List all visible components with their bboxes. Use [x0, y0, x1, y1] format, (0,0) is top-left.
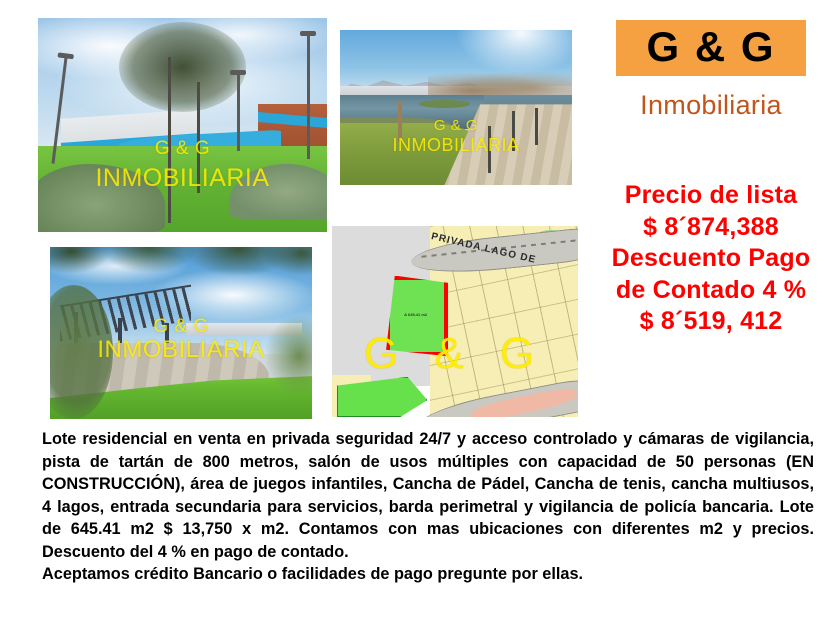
- property-description: Lote residencial en venta en privada seg…: [42, 428, 814, 586]
- shrub-right: [265, 316, 312, 395]
- photo-watermark: G & G: [332, 329, 578, 379]
- price-block: Precio de lista $ 8´874,388 Descuento Pa…: [586, 180, 836, 338]
- boardwalk-post-1: [512, 111, 515, 151]
- light-pole-mid: [237, 74, 240, 151]
- description-body: Lote residencial en venta en privada seg…: [42, 430, 814, 561]
- brand-badge: G & G: [616, 20, 806, 76]
- photo-pergola-scene: [50, 247, 312, 419]
- shore-post: [398, 101, 402, 141]
- brand-subtitle: Inmobiliaria: [616, 90, 806, 121]
- photo-entrance[interactable]: G & G INMOBILIARIA: [38, 18, 327, 232]
- photo-lake-scene: [340, 30, 572, 185]
- price-list-value: $ 8´874,388: [586, 212, 836, 244]
- photo-plat-map[interactable]: A 645.41 m2 PRIVADA LAGO DE G & G: [332, 226, 578, 417]
- photo-pergola[interactable]: G & G INMOBILIARIA: [50, 247, 312, 419]
- photo-entrance-scene: [38, 18, 327, 232]
- price-discount-label-1: Descuento Pago: [586, 243, 836, 275]
- price-discount-value: $ 8´519, 412: [586, 306, 836, 338]
- tree-trunk: [168, 57, 171, 224]
- tree-canopy: [119, 22, 246, 112]
- lake-island: [419, 100, 470, 108]
- price-discount-label-2: de Contado 4 %: [586, 275, 836, 307]
- boardwalk-post-3: [488, 126, 491, 173]
- boardwalk-post-2: [535, 108, 538, 145]
- description-last-line: Aceptamos crédito Bancario o facilidades…: [42, 563, 814, 586]
- light-pole-right: [307, 35, 310, 159]
- overhanging-foliage: [50, 247, 312, 292]
- price-list-label: Precio de lista: [586, 180, 836, 212]
- tree-trunk-secondary: [197, 82, 200, 193]
- photo-lake[interactable]: G & G INMOBILIARIA: [340, 30, 572, 185]
- map-lot-code: A 645.41 m2: [404, 312, 427, 317]
- brand-logo-block: G & G Inmobiliaria: [616, 20, 806, 121]
